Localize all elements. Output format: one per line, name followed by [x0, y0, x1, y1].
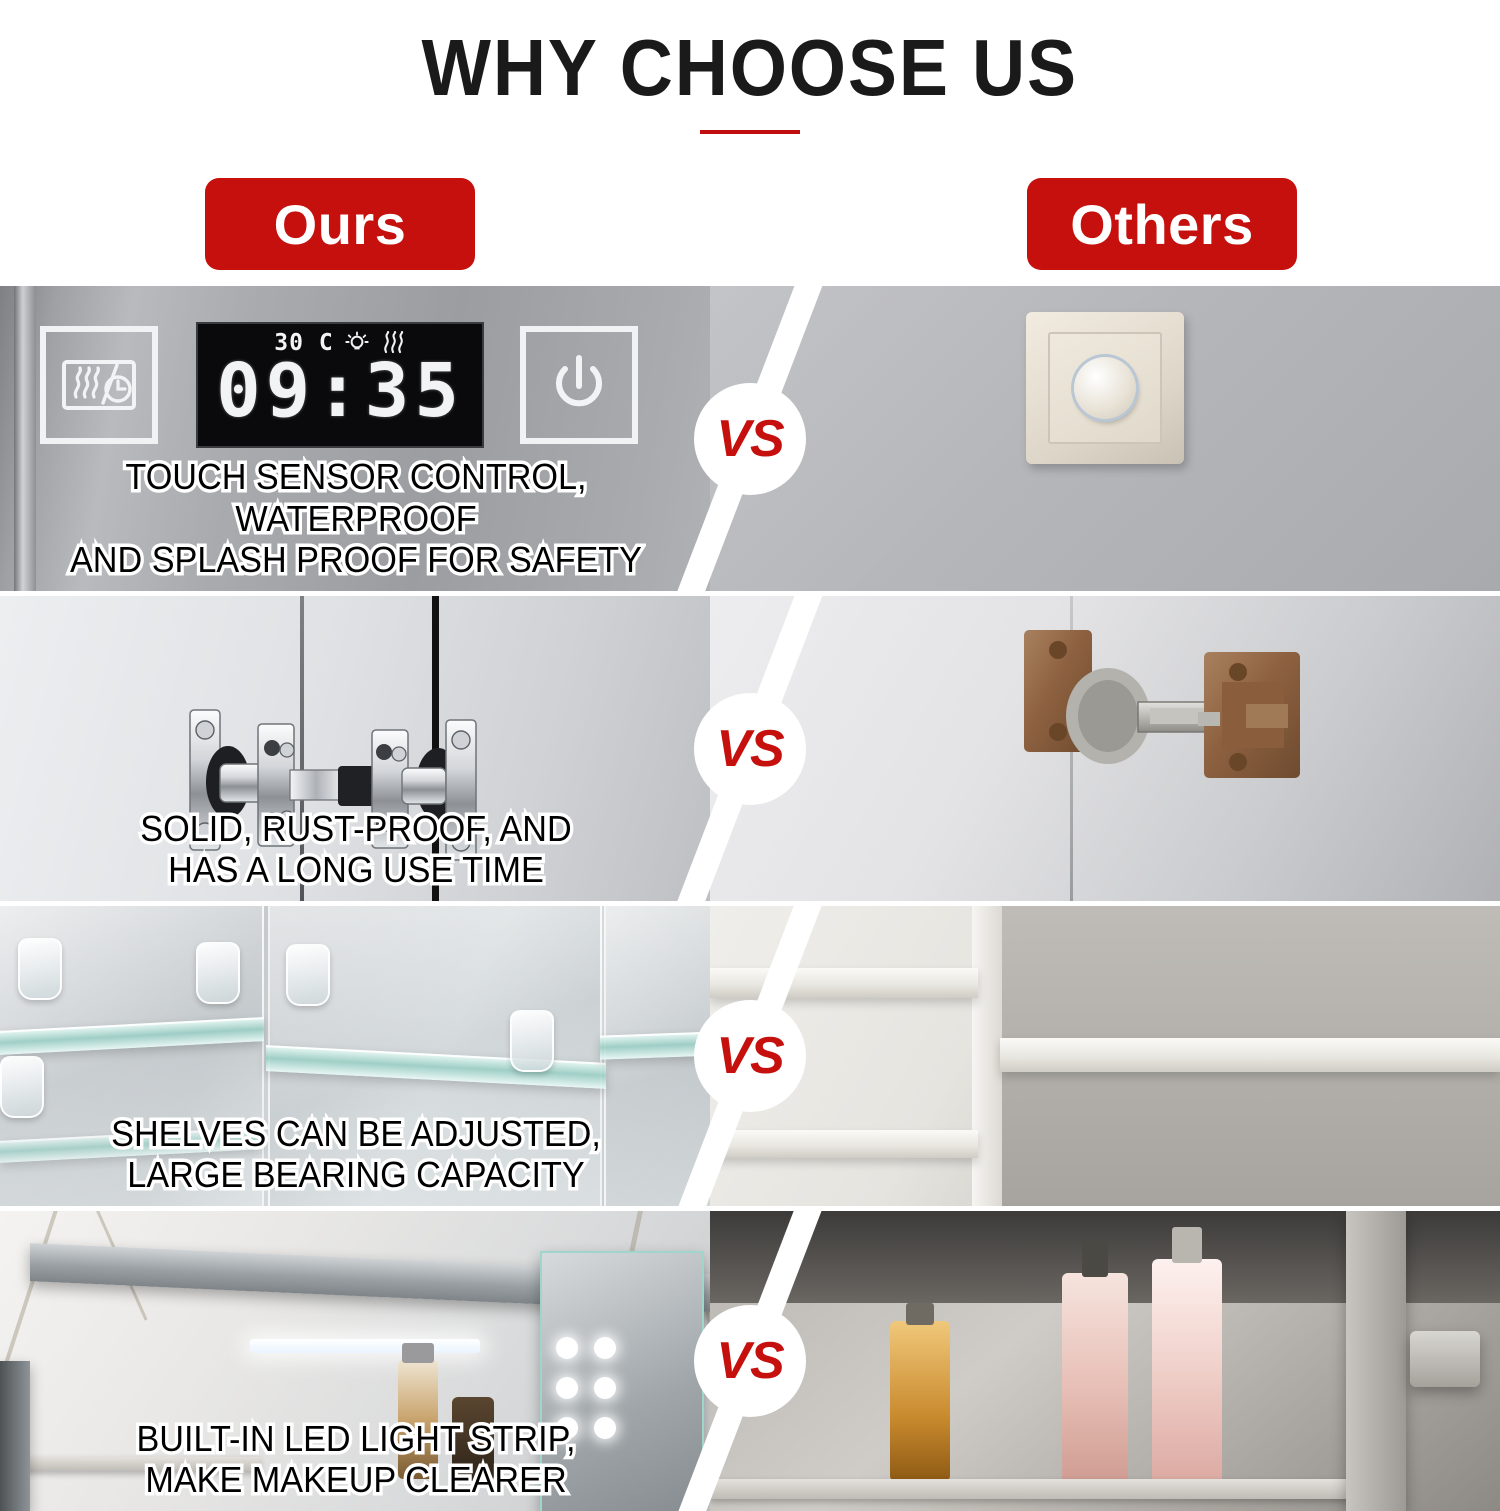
cabinet-divider [972, 906, 1002, 1206]
caption-ours-lighting: BUILT-IN LED LIGHT STRIP, MAKE MAKEUP CL… [18, 1418, 694, 1502]
ours-panel-hinge: SOLID, RUST-PROOF, AND HAS A LONG USE TI… [0, 596, 790, 901]
boutique-bottle [1152, 1259, 1222, 1485]
vs-badge-row1: VS [694, 383, 806, 495]
led-dot [594, 1337, 616, 1359]
led-dot [556, 1337, 578, 1359]
badge-ours: Ours [205, 178, 475, 270]
shelf-support-clip [510, 1010, 554, 1072]
led-light-strip [250, 1339, 480, 1353]
comparison-row-hinge: SOLID, RUST-PROOF, AND HAS A LONG USE TI… [0, 591, 1500, 901]
badge-others: Others [1027, 178, 1297, 270]
shelf-support-clip [18, 938, 62, 1000]
shelf-support-clip [286, 944, 330, 1006]
fixed-shelf [710, 968, 978, 998]
bottle-cap [1172, 1227, 1202, 1263]
led-clock-time: 09:35 [198, 354, 482, 428]
ours-panel-touch-control: 30 C [0, 286, 790, 591]
fixed-shelf [1000, 1038, 1500, 1072]
column-headers: Ours Others [0, 168, 1500, 286]
rusty-hinge-image [1000, 616, 1340, 861]
page-header: WHY CHOOSE US [0, 0, 1500, 168]
bottle-cap [1082, 1239, 1108, 1277]
led-dot [594, 1377, 616, 1399]
caption-ours-shelves: SHELVES CAN BE ADJUSTED, LARGE BEARING C… [18, 1113, 694, 1197]
comparison-rows: 30 C [0, 286, 1500, 1511]
fixed-shelf [710, 1130, 978, 1158]
comparison-row-lighting: BUILT-IN LED LIGHT STRIP, MAKE MAKEUP CL… [0, 1206, 1500, 1511]
cabinet-side-panel [1346, 1211, 1406, 1511]
caption-ours-touch-control: TOUCH SENSOR CONTROL, WATERPROOF AND SPL… [18, 456, 694, 581]
caption-ours-hinge: SOLID, RUST-PROOF, AND HAS A LONG USE TI… [18, 808, 694, 892]
others-panel-hinge: DAMP, RUST AND FALL OFF EASILY FOR A LON… [710, 596, 1500, 901]
others-panel-touch-control: TRADITIONAL BUTTON SWITCH, NOT WATERPROO… [710, 286, 1500, 591]
led-display-panel: 30 C [196, 322, 484, 448]
led-dot [556, 1377, 578, 1399]
cabinet-hinge [1410, 1331, 1480, 1387]
title-divider [700, 130, 800, 134]
switch-knob [1074, 357, 1136, 419]
comparison-row-shelves: SHELVES CAN BE ADJUSTED, LARGE BEARING C… [0, 901, 1500, 1206]
others-panel-lighting: THE ENVIRONMENT WAS DARK, LACKING LIGHT … [710, 1211, 1500, 1511]
bottle-cap [906, 1303, 934, 1325]
vs-badge-row3: VS [694, 1000, 806, 1112]
comparison-row-touch-control: 30 C [0, 286, 1500, 591]
shampoo-bottle [890, 1321, 950, 1481]
dimmer-switch-image [1026, 312, 1184, 464]
bottle-cap [402, 1343, 434, 1363]
defog-clock-icon [40, 326, 158, 444]
power-icon [520, 326, 638, 444]
shelf-support-clip [196, 942, 240, 1004]
ours-panel-lighting: BUILT-IN LED LIGHT STRIP, MAKE MAKEUP CL… [0, 1211, 790, 1511]
others-panel-shelves: FIXED SHELVES, LIMITED HEIGHT [710, 906, 1500, 1206]
marble-vein [0, 1211, 64, 1382]
shelf-support-clip [0, 1056, 44, 1118]
cabinet-shelf-edge [710, 1479, 1350, 1499]
vs-badge-row2: VS [694, 693, 806, 805]
page-title: WHY CHOOSE US [422, 26, 1078, 110]
lotion-bottle [1062, 1273, 1128, 1483]
ours-panel-shelves: SHELVES CAN BE ADJUSTED, LARGE BEARING C… [0, 906, 790, 1206]
vs-badge-row4: VS [694, 1305, 806, 1417]
